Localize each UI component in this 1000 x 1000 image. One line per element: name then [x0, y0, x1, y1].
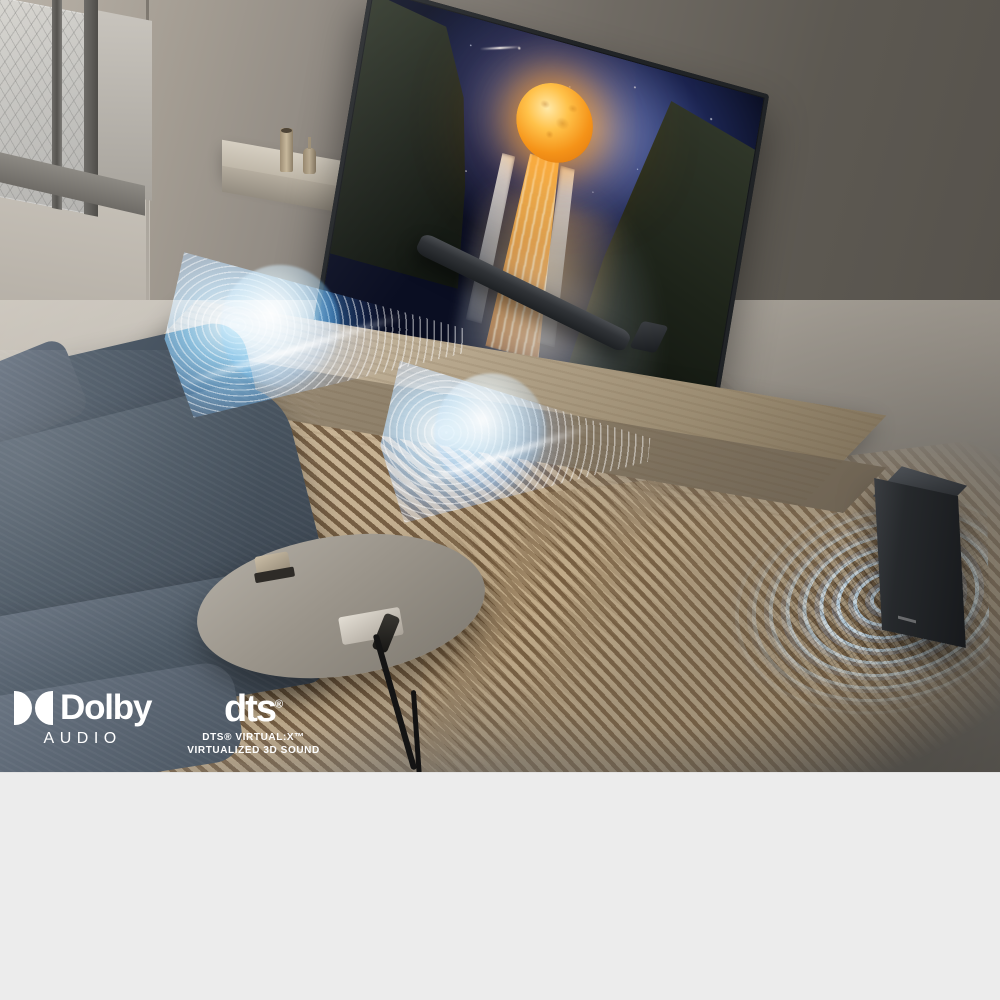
- dts-wordmark-text: dts: [224, 688, 275, 730]
- dolby-double-d-icon: [14, 691, 53, 725]
- dolby-wordmark: Dolby: [60, 690, 151, 725]
- subwoofer: [874, 478, 966, 648]
- dolby-logo-row: Dolby: [14, 690, 151, 725]
- dolby-subtitle: AUDIO: [44, 731, 122, 747]
- dts-wordmark: dts®: [224, 690, 283, 728]
- dts-line-1: DTS® VIRTUAL:X™: [202, 732, 304, 745]
- audio-format-badges: Dolby AUDIO dts® DTS® VIRTUAL:X™ VIRTUAL…: [14, 690, 320, 757]
- decor-vase-small: [303, 148, 316, 174]
- dts-line-2: VIRTUALIZED 3D SOUND: [187, 745, 320, 758]
- dolby-audio-badge: Dolby AUDIO: [14, 690, 151, 747]
- caption-panel: Enhance your audio experience Experience…: [0, 772, 1000, 1000]
- window-panel: [96, 10, 152, 201]
- table-object-block: [254, 551, 292, 581]
- sound-cone-right: [372, 325, 659, 548]
- dts-registered-mark: ®: [275, 698, 283, 710]
- living-room-photo: Dolby AUDIO dts® DTS® VIRTUAL:X™ VIRTUAL…: [0, 0, 1000, 772]
- product-feature-card: Dolby AUDIO dts® DTS® VIRTUAL:X™ VIRTUAL…: [0, 0, 1000, 1000]
- dts-virtualx-badge: dts® DTS® VIRTUAL:X™ VIRTUALIZED 3D SOUN…: [187, 690, 320, 757]
- decor-vase-tall: [280, 128, 293, 172]
